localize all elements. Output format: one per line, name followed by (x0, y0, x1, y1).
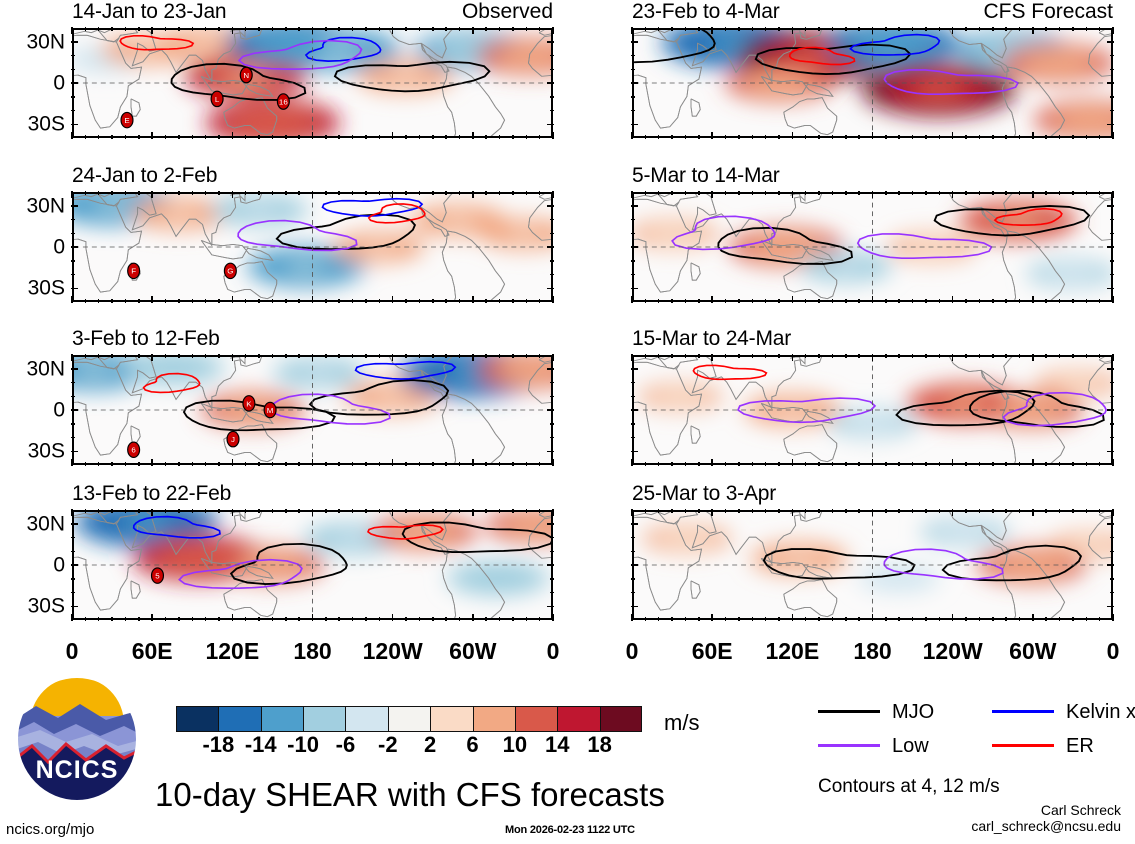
axis-tick (205, 299, 207, 303)
axis-tick (218, 299, 220, 303)
x-tick-label-0: 0 (66, 640, 79, 663)
map-canvas: FG (74, 194, 551, 300)
axis-tick (472, 459, 474, 466)
axis-tick (71, 423, 75, 425)
axis-tick (312, 509, 314, 516)
axis-tick (178, 509, 180, 513)
axis-tick (858, 191, 860, 195)
axis-tick (352, 617, 354, 621)
axis-tick (138, 135, 140, 139)
axis-tick (218, 509, 220, 513)
author-name: Carl Schreck (971, 802, 1121, 818)
axis-tick (792, 614, 794, 621)
axis-tick (711, 27, 713, 34)
axis-tick (1045, 135, 1047, 139)
axis-tick (405, 191, 407, 195)
axis-tick (832, 462, 834, 466)
axis-tick (965, 462, 967, 466)
x-tick-label-60E: 60E (132, 640, 173, 663)
axis-tick (698, 299, 700, 303)
map-canvas (634, 357, 1111, 463)
axis-tick (1059, 462, 1061, 466)
axis-tick (818, 509, 820, 513)
axis-tick (71, 564, 78, 566)
axis-tick (71, 592, 75, 594)
axis-tick (526, 191, 528, 195)
colorbar-tick--14: -14 (245, 734, 277, 756)
axis-tick (872, 296, 874, 303)
axis-tick (178, 135, 180, 139)
x-tick-label-120E: 120E (765, 640, 819, 663)
axis-tick (298, 135, 300, 139)
axis-tick (885, 135, 887, 139)
site-url[interactable]: ncics.org/mjo (6, 822, 94, 837)
map-canvas (634, 30, 1111, 136)
axis-tick (192, 354, 194, 358)
legend-line-er (992, 744, 1054, 747)
axis-tick (312, 354, 314, 361)
axis-tick (245, 191, 247, 195)
axis-tick (85, 509, 87, 513)
axis-tick (845, 135, 847, 139)
axis-tick (85, 354, 87, 358)
axis-tick (85, 27, 87, 31)
x-tick-label-120W: 120W (923, 640, 983, 663)
axis-tick (1112, 614, 1114, 621)
axis-tick (365, 509, 367, 513)
axis-tick (258, 509, 260, 513)
axis-tick (952, 509, 954, 516)
axis-tick (338, 462, 340, 466)
axis-tick (818, 27, 820, 31)
axis-tick (205, 135, 207, 139)
axis-tick (71, 606, 78, 608)
map-obs-4: 5 (72, 510, 553, 620)
x-tick-label-60W: 60W (449, 640, 496, 663)
axis-tick (1086, 462, 1088, 466)
axis-tick (550, 233, 554, 235)
axis-tick (1032, 132, 1034, 139)
axis-tick (445, 299, 447, 303)
axis-tick (550, 260, 554, 262)
axis-tick (298, 509, 300, 513)
axis-tick (631, 110, 635, 112)
axis-tick (631, 55, 635, 57)
axis-tick (165, 299, 167, 303)
colorbar-cell-4 (345, 706, 387, 732)
axis-tick (205, 462, 207, 466)
axis-tick (778, 27, 780, 31)
axis-tick (71, 110, 75, 112)
axis-tick (805, 354, 807, 358)
legend-line-mjo (818, 710, 880, 713)
axis-tick (432, 135, 434, 139)
axis-tick (472, 191, 474, 198)
axis-tick (445, 135, 447, 139)
axis-tick (1107, 523, 1114, 525)
axis-tick (85, 462, 87, 466)
axis-tick (1107, 246, 1114, 248)
axis-tick (952, 614, 954, 621)
colorbar-tick--10: -10 (287, 734, 319, 756)
axis-tick (485, 462, 487, 466)
svg-text:N: N (243, 71, 249, 80)
axis-tick (1032, 509, 1034, 516)
axis-tick (71, 578, 75, 580)
axis-tick (925, 27, 927, 31)
axis-tick (111, 299, 113, 303)
axis-tick (178, 191, 180, 195)
axis-tick (552, 191, 554, 198)
panel-fcst-2: 5-Mar to 14-Mar (632, 192, 1113, 302)
axis-tick (539, 617, 541, 621)
axis-tick (85, 617, 87, 621)
axis-tick (1112, 132, 1114, 139)
x-tick-label-60E: 60E (692, 640, 733, 663)
axis-tick (992, 617, 994, 621)
axis-tick (459, 509, 461, 513)
axis-tick (98, 299, 100, 303)
axis-tick (526, 354, 528, 358)
axis-tick (550, 537, 554, 539)
axis-tick (125, 462, 127, 466)
axis-tick (71, 509, 73, 516)
axis-tick (298, 191, 300, 195)
axis-tick (818, 462, 820, 466)
axis-tick (939, 354, 941, 358)
axis-tick (885, 299, 887, 303)
colorbar-tick-2: 2 (424, 734, 436, 756)
storm-marker: N (240, 67, 252, 82)
svg-text:F: F (131, 267, 136, 276)
axis-tick (1086, 354, 1088, 358)
axis-tick (71, 551, 75, 553)
author-block: Carl Schreck carl_schreck@ncsu.edu (971, 802, 1121, 834)
axis-tick (445, 191, 447, 195)
axis-tick (125, 299, 127, 303)
axis-tick (925, 462, 927, 466)
axis-tick (631, 509, 633, 516)
axis-tick (526, 617, 528, 621)
axis-tick (1086, 617, 1088, 621)
axis-tick (658, 462, 660, 466)
axis-tick (631, 354, 633, 361)
axis-tick (165, 617, 167, 621)
axis-tick (499, 27, 501, 31)
axis-tick (738, 509, 740, 513)
axis-tick (805, 509, 807, 513)
axis-tick (432, 354, 434, 358)
axis-tick (898, 135, 900, 139)
axis-tick (711, 132, 713, 139)
axis-tick (539, 462, 541, 466)
axis-tick (539, 354, 541, 358)
axis-tick (392, 459, 394, 466)
axis-tick (872, 614, 874, 621)
axis-tick (685, 509, 687, 513)
axis-tick (805, 617, 807, 621)
axis-tick (550, 437, 554, 439)
axis-tick (685, 299, 687, 303)
axis-tick (138, 299, 140, 303)
axis-tick (1005, 462, 1007, 466)
axis-tick (631, 551, 635, 553)
axis-tick (1107, 409, 1114, 411)
axis-tick (419, 299, 421, 303)
axis-tick (631, 41, 638, 43)
axis-tick (631, 606, 638, 608)
axis-tick (1032, 459, 1034, 466)
axis-tick (698, 191, 700, 195)
axis-tick (485, 299, 487, 303)
axis-tick (778, 354, 780, 358)
y-tick-label-30N: 30N (26, 358, 65, 379)
axis-tick (71, 124, 78, 126)
axis-tick (419, 191, 421, 195)
axis-tick (698, 135, 700, 139)
axis-tick (71, 437, 75, 439)
axis-tick (552, 354, 554, 361)
axis-tick (125, 27, 127, 31)
axis-tick (765, 191, 767, 195)
panel-title-obs-2: 24-Jan to 2-Feb (72, 165, 217, 186)
panel-title-obs-3: 3-Feb to 12-Feb (72, 328, 220, 349)
axis-tick (631, 409, 638, 411)
axis-tick (1005, 509, 1007, 513)
axis-tick (71, 27, 73, 34)
map-canvas: 5 (74, 512, 551, 618)
axis-tick (631, 592, 635, 594)
axis-tick (512, 617, 514, 621)
panel-obs-4: 13-Feb to 22-Feb530N030S (72, 510, 553, 620)
axis-tick (71, 274, 75, 276)
axis-tick (898, 462, 900, 466)
axis-tick (338, 299, 340, 303)
axis-tick (272, 617, 274, 621)
axis-tick (979, 354, 981, 358)
axis-tick (485, 617, 487, 621)
axis-tick (325, 191, 327, 195)
axis-tick (1110, 396, 1114, 398)
axis-tick (1019, 509, 1021, 513)
axis-tick (379, 27, 381, 31)
axis-tick (1059, 191, 1061, 195)
axis-tick (805, 27, 807, 31)
axis-tick (365, 27, 367, 31)
axis-tick (952, 354, 954, 361)
axis-tick (550, 592, 554, 594)
axis-tick (352, 462, 354, 466)
axis-tick (1112, 509, 1114, 516)
axis-tick (1110, 69, 1114, 71)
axis-tick (526, 299, 528, 303)
axis-tick (658, 354, 660, 358)
axis-tick (111, 354, 113, 358)
axis-tick (547, 523, 554, 525)
axis-tick (512, 462, 514, 466)
x-tick-label-0: 0 (626, 640, 639, 663)
axis-tick (325, 27, 327, 31)
axis-tick (1107, 82, 1114, 84)
map-fcst-1 (632, 28, 1113, 138)
y-tick-label-30N: 30N (26, 513, 65, 534)
axis-tick (872, 27, 874, 34)
axis-tick (379, 299, 381, 303)
axis-tick (1110, 423, 1114, 425)
axis-tick (631, 382, 635, 384)
axis-tick (178, 617, 180, 621)
axis-tick (405, 462, 407, 466)
axis-tick (98, 27, 100, 31)
axis-tick (965, 509, 967, 513)
axis-tick (485, 509, 487, 513)
axis-tick (1019, 135, 1021, 139)
axis-tick (912, 617, 914, 621)
axis-tick (1032, 354, 1034, 361)
x-tick-label-0: 0 (547, 640, 560, 663)
axis-tick (232, 191, 234, 198)
panel-title-fcst-1: 23-Feb to 4-Mar (632, 1, 780, 22)
axis-tick (258, 299, 260, 303)
axis-tick (965, 191, 967, 195)
axis-tick (631, 124, 638, 126)
axis-tick (725, 617, 727, 621)
axis-tick (312, 614, 314, 621)
axis-tick (778, 135, 780, 139)
axis-tick (912, 509, 914, 513)
axis-tick (885, 191, 887, 195)
axis-tick (1112, 354, 1114, 361)
axis-tick (298, 462, 300, 466)
axis-tick (912, 27, 914, 31)
axis-tick (379, 135, 381, 139)
axis-tick (1086, 299, 1088, 303)
axis-tick (1005, 354, 1007, 358)
axis-tick (111, 191, 113, 195)
axis-tick (552, 459, 554, 466)
axis-tick (1099, 462, 1101, 466)
axis-tick (658, 509, 660, 513)
axis-tick (645, 617, 647, 621)
svg-text:J: J (231, 435, 235, 444)
axis-tick (711, 459, 713, 466)
axis-tick (858, 617, 860, 621)
axis-tick (178, 299, 180, 303)
axis-tick (285, 509, 287, 513)
panel-title-fcst-4: 25-Mar to 3-Apr (632, 483, 776, 504)
axis-tick (547, 205, 554, 207)
column-label-observed: Observed (462, 1, 553, 22)
ncics-logo[interactable]: NCICS (14, 676, 140, 802)
colorbar (176, 706, 642, 732)
axis-tick (365, 617, 367, 621)
axis-tick (1110, 274, 1114, 276)
axis-tick (685, 354, 687, 358)
axis-tick (925, 509, 927, 513)
axis-tick (992, 299, 994, 303)
axis-tick (111, 135, 113, 139)
axis-tick (685, 617, 687, 621)
axis-tick (645, 191, 647, 195)
y-tick-label-30S: 30S (28, 278, 65, 299)
axis-tick (631, 132, 633, 139)
axis-tick (1107, 564, 1114, 566)
axis-tick (711, 296, 713, 303)
axis-tick (1099, 27, 1101, 31)
axis-tick (338, 354, 340, 358)
axis-tick (71, 191, 73, 198)
axis-tick (98, 135, 100, 139)
axis-tick (698, 27, 700, 31)
axis-tick (858, 462, 860, 466)
axis-tick (912, 299, 914, 303)
axis-tick (338, 509, 340, 513)
axis-tick (125, 354, 127, 358)
axis-tick (1045, 299, 1047, 303)
axis-tick (272, 509, 274, 513)
axis-tick (631, 451, 638, 453)
axis-tick (805, 462, 807, 466)
axis-tick (845, 299, 847, 303)
colorbar-cell-2 (261, 706, 303, 732)
axis-tick (738, 354, 740, 358)
axis-tick (352, 299, 354, 303)
axis-tick (445, 354, 447, 358)
axis-tick (352, 27, 354, 31)
axis-tick (1110, 219, 1114, 221)
svg-text:E: E (124, 116, 129, 125)
axis-tick (858, 135, 860, 139)
axis-tick (1099, 354, 1101, 358)
axis-tick (631, 69, 635, 71)
axis-tick (178, 27, 180, 31)
axis-tick (752, 354, 754, 358)
axis-tick (738, 191, 740, 195)
axis-tick (285, 135, 287, 139)
axis-tick (151, 27, 153, 34)
axis-tick (818, 617, 820, 621)
axis-tick (312, 296, 314, 303)
axis-tick (778, 462, 780, 466)
axis-tick (192, 462, 194, 466)
axis-tick (832, 509, 834, 513)
axis-tick (71, 41, 78, 43)
svg-text:G: G (227, 267, 233, 276)
axis-tick (992, 462, 994, 466)
axis-tick (258, 191, 260, 195)
axis-tick (245, 509, 247, 513)
axis-tick (71, 205, 78, 207)
axis-tick (512, 354, 514, 358)
svg-text:6: 6 (131, 446, 135, 455)
axis-tick (1072, 617, 1074, 621)
axis-tick (992, 509, 994, 513)
axis-tick (71, 219, 75, 221)
axis-tick (1059, 299, 1061, 303)
axis-tick (165, 462, 167, 466)
axis-tick (392, 509, 394, 516)
axis-tick (1059, 354, 1061, 358)
axis-tick (232, 509, 234, 516)
axis-tick (912, 135, 914, 139)
axis-tick (778, 509, 780, 513)
colorbar-cell-5 (388, 706, 430, 732)
axis-tick (792, 296, 794, 303)
axis-tick (547, 41, 554, 43)
axis-tick (792, 459, 794, 466)
axis-tick (352, 191, 354, 195)
y-tick-label-0: 0 (53, 555, 65, 576)
